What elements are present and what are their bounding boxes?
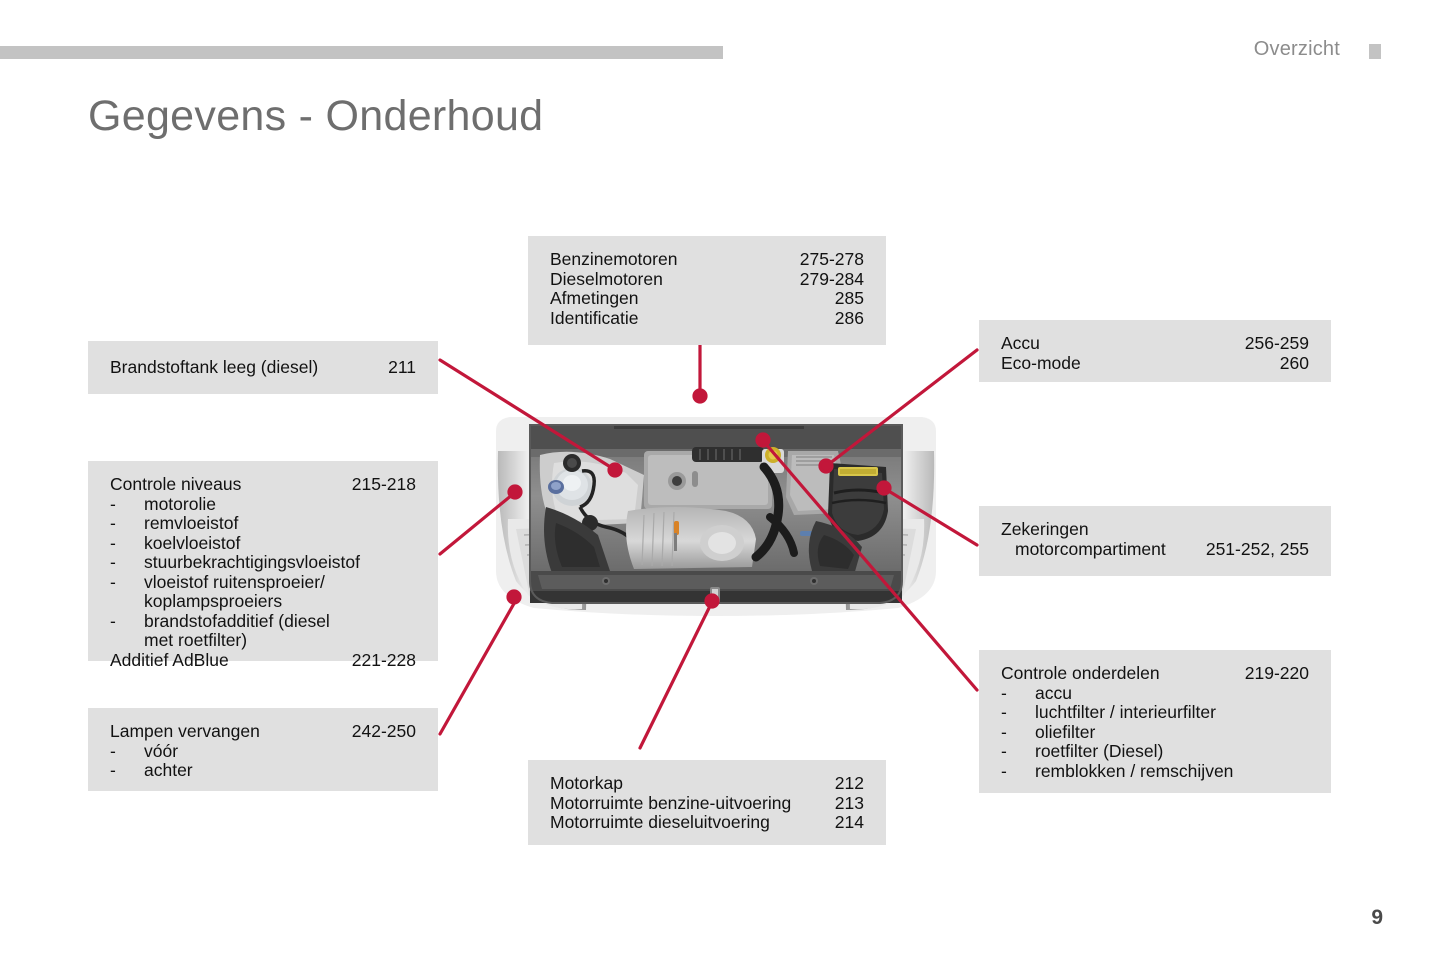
row-pages: 256-259: [1245, 334, 1309, 354]
table-row: Eco-mode 260: [1001, 354, 1309, 374]
callout-battery: Accu 256-259 Eco-mode 260: [979, 320, 1331, 382]
table-row: Lampen vervangen 242-250: [110, 722, 416, 742]
bullet-dash: -: [1001, 723, 1035, 743]
bullet-dash: -: [110, 495, 144, 515]
row-label: Brandstoftank leeg (diesel): [110, 358, 336, 378]
row-label: Motorkap: [550, 774, 641, 794]
list-item: - stuurbekrachtigingsvloeistof: [110, 553, 416, 573]
list-item-continuation: met roetfilter): [110, 631, 416, 651]
callout-component-checks: Controle onderdelen 219-220 - accu - luc…: [979, 650, 1331, 793]
callout-fuel-tank: Brandstoftank leeg (diesel) 211: [88, 341, 438, 394]
row-pages: 242-250: [352, 722, 416, 742]
row-label: Additief AdBlue: [110, 651, 247, 671]
list-item: - brandstofadditief (diesel: [110, 612, 416, 632]
row-label: motorcompartiment: [1015, 540, 1184, 560]
row-pages: 286: [835, 309, 864, 329]
bullet-dash: -: [110, 742, 144, 762]
row-pages: 213: [835, 794, 864, 814]
row-label: Motorruimte benzine-uitvoering: [550, 794, 809, 814]
list-item-label: accu: [1035, 684, 1309, 704]
row-pages: 211: [388, 358, 416, 378]
list-item-label: remblokken / remschijven: [1035, 762, 1309, 782]
bullet-dash: -: [1001, 703, 1035, 723]
list-item: - koelvloeistof: [110, 534, 416, 554]
list-item-label: stuurbekrachtigingsvloeistof: [144, 553, 416, 573]
row-label: Dieselmotoren: [550, 270, 681, 290]
list-item-label: brandstofadditief (diesel: [144, 612, 416, 632]
bullet-dash: -: [110, 534, 144, 554]
table-row: Identificatie 286: [550, 309, 864, 329]
table-row: Controle niveaus 215-218: [110, 475, 416, 495]
table-row: Controle onderdelen 219-220: [1001, 664, 1309, 684]
list-item: - remblokken / remschijven: [1001, 762, 1309, 782]
row-label: Lampen vervangen: [110, 722, 278, 742]
bullet-dash: -: [1001, 762, 1035, 782]
row-pages: 215-218: [352, 475, 416, 495]
table-row: Afmetingen 285: [550, 289, 864, 309]
row-pages: 275-278: [800, 250, 864, 270]
row-label: Accu: [1001, 334, 1058, 354]
list-item: - luchtfilter / interieurfilter: [1001, 703, 1309, 723]
row-label: Motorruimte dieseluitvoering: [550, 813, 788, 833]
bullet-dash: -: [1001, 742, 1035, 762]
callout-bulb-replacement: Lampen vervangen 242-250 - vóór - achter: [88, 708, 438, 791]
header-section-label: Overzicht: [1254, 38, 1340, 61]
row-label: Benzinemotoren: [550, 250, 695, 270]
bullet-dash: -: [110, 761, 144, 781]
header-rule: [0, 46, 723, 59]
manual-page: Overzicht Gegevens - Onderhoud 9: [0, 0, 1445, 963]
bullet-dash: -: [1001, 684, 1035, 704]
list-item-label: remvloeistof: [144, 514, 416, 534]
table-row: Motorruimte dieseluitvoering 214: [550, 813, 864, 833]
list-item-label: oliefilter: [1035, 723, 1309, 743]
row-pages: 212: [835, 774, 864, 794]
row-label: Identificatie: [550, 309, 657, 329]
callout-fluid-levels: Controle niveaus 215-218 - motorolie - r…: [88, 461, 438, 661]
row-pages: 221-228: [352, 651, 416, 671]
table-row: Brandstoftank leeg (diesel) 211: [110, 358, 416, 378]
page-number: 9: [1371, 906, 1383, 930]
list-item: - remvloeistof: [110, 514, 416, 534]
row-label: Controle niveaus: [110, 475, 259, 495]
table-row: Dieselmotoren 279-284: [550, 270, 864, 290]
table-row: Accu 256-259: [1001, 334, 1309, 354]
list-item: - roetfilter (Diesel): [1001, 742, 1309, 762]
table-row: Motorruimte benzine-uitvoering 213: [550, 794, 864, 814]
row-pages: 260: [1280, 354, 1309, 374]
row-label: Controle onderdelen: [1001, 664, 1178, 684]
list-item: - oliefilter: [1001, 723, 1309, 743]
square-marker-icon: [1369, 44, 1381, 59]
bullet-dash: -: [110, 573, 144, 593]
table-row: motorcompartiment 251-252, 255: [1001, 540, 1309, 560]
table-row: Benzinemotoren 275-278: [550, 250, 864, 270]
list-item: - achter: [110, 761, 416, 781]
list-item-label: achter: [144, 761, 416, 781]
list-item-label: roetfilter (Diesel): [1035, 742, 1309, 762]
list-item: - motorolie: [110, 495, 416, 515]
engine-compartment-photo: [494, 411, 938, 616]
bullet-dash: -: [110, 553, 144, 573]
callout-bonnet: Motorkap 212 Motorruimte benzine-uitvoer…: [528, 760, 886, 845]
page-title: Gegevens - Onderhoud: [88, 92, 543, 141]
table-row: Additief AdBlue 221-228: [110, 651, 416, 671]
list-item: - vóór: [110, 742, 416, 762]
list-item: - accu: [1001, 684, 1309, 704]
row-pages: 285: [835, 289, 864, 309]
callout-fuses: Zekeringen motorcompartiment 251-252, 25…: [979, 506, 1331, 576]
row-pages: 251-252, 255: [1206, 540, 1309, 560]
list-item-label: vóór: [144, 742, 416, 762]
row-pages: 279-284: [800, 270, 864, 290]
list-item-label: vloeistof ruitensproeier/: [144, 573, 416, 593]
bullet-dash: -: [110, 612, 144, 632]
bullet-dash: -: [110, 514, 144, 534]
row-label: Zekeringen: [1001, 520, 1309, 540]
callout-engines: Benzinemotoren 275-278 Dieselmotoren 279…: [528, 236, 886, 345]
list-item-continuation: koplampsproeiers: [110, 592, 416, 612]
row-pages: 219-220: [1245, 664, 1309, 684]
list-item-label: koelvloeistof: [144, 534, 416, 554]
list-item-label: motorolie: [144, 495, 416, 515]
row-pages: 214: [835, 813, 864, 833]
list-item-label: luchtfilter / interieurfilter: [1035, 703, 1309, 723]
row-label: Eco-mode: [1001, 354, 1099, 374]
table-row: Motorkap 212: [550, 774, 864, 794]
list-item: - vloeistof ruitensproeier/: [110, 573, 416, 593]
row-label: Afmetingen: [550, 289, 657, 309]
